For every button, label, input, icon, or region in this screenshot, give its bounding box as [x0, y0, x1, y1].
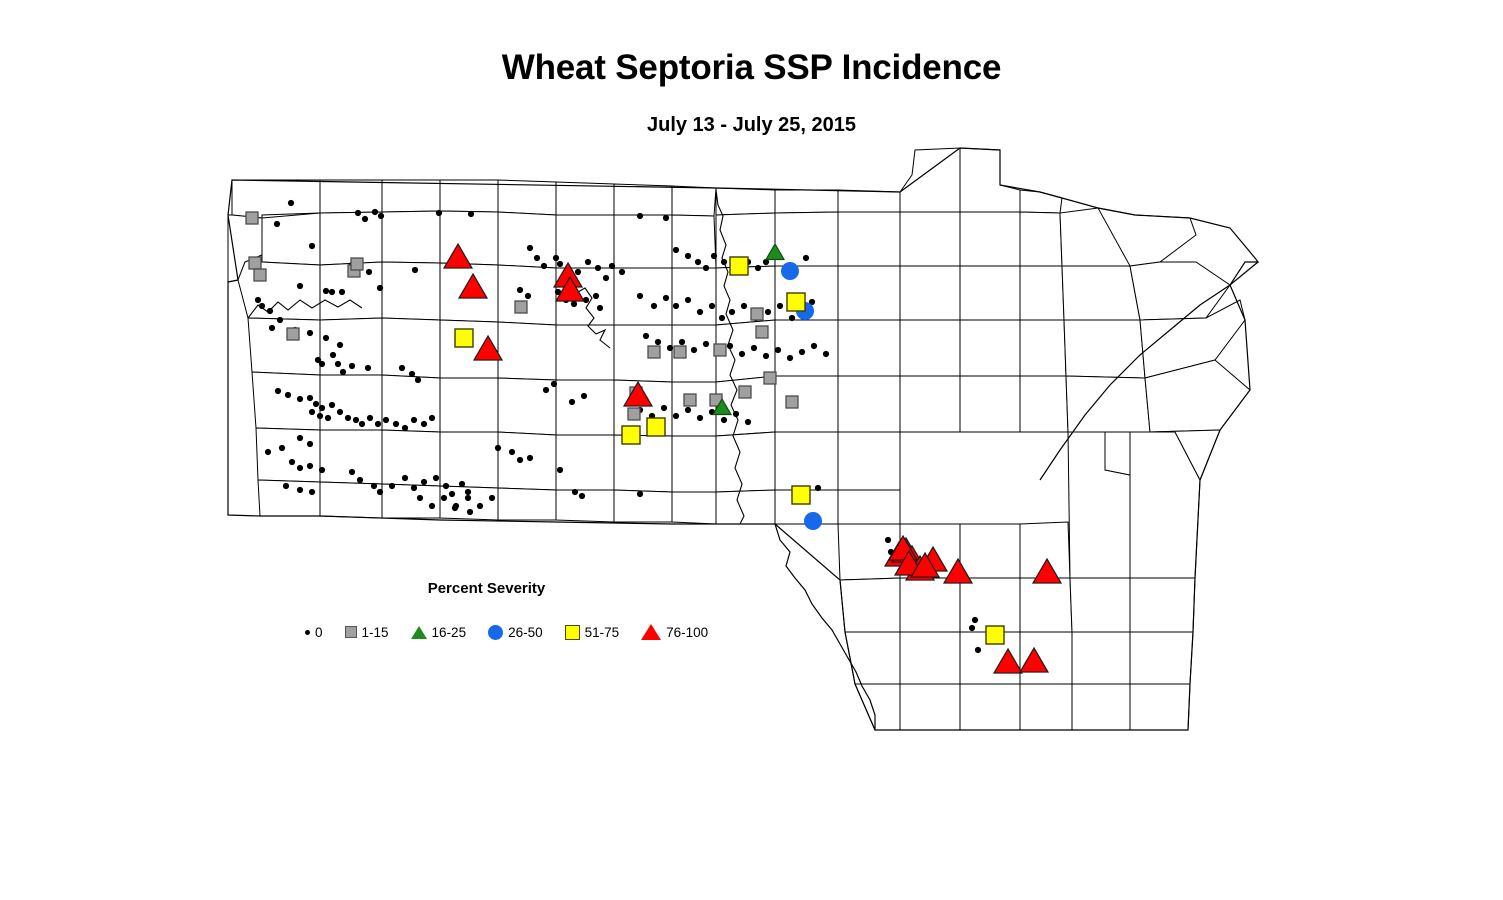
county-boundaries [228, 148, 1250, 730]
legend: 0 1-15 16-25 26-50 51-75 76-100 [305, 624, 730, 640]
map-canvas [0, 0, 1503, 900]
small-black-dot-icon [305, 630, 310, 635]
green-triangle-icon [411, 626, 427, 639]
legend-label-76-100: 76-100 [666, 625, 708, 640]
legend-label-26-50: 26-50 [508, 625, 543, 640]
map-page: Wheat Septoria SSP Incidence July 13 - J… [0, 0, 1503, 900]
legend-item-0[interactable]: 0 [305, 625, 323, 640]
legend-item-76-100[interactable]: 76-100 [641, 624, 708, 640]
legend-label-16-25: 16-25 [432, 625, 467, 640]
legend-label-0: 0 [315, 625, 323, 640]
legend-label-51-75: 51-75 [585, 625, 620, 640]
legend-item-51-75[interactable]: 51-75 [565, 625, 620, 640]
map-svg [0, 0, 1503, 900]
gray-square-icon [345, 626, 357, 638]
yellow-square-icon [565, 625, 580, 640]
legend-item-1-15[interactable]: 1-15 [345, 625, 389, 640]
blue-circle-icon [488, 625, 503, 640]
legend-item-16-25[interactable]: 16-25 [411, 625, 467, 640]
legend-label-1-15: 1-15 [362, 625, 389, 640]
red-triangle-icon [641, 624, 661, 640]
legend-item-26-50[interactable]: 26-50 [488, 625, 543, 640]
